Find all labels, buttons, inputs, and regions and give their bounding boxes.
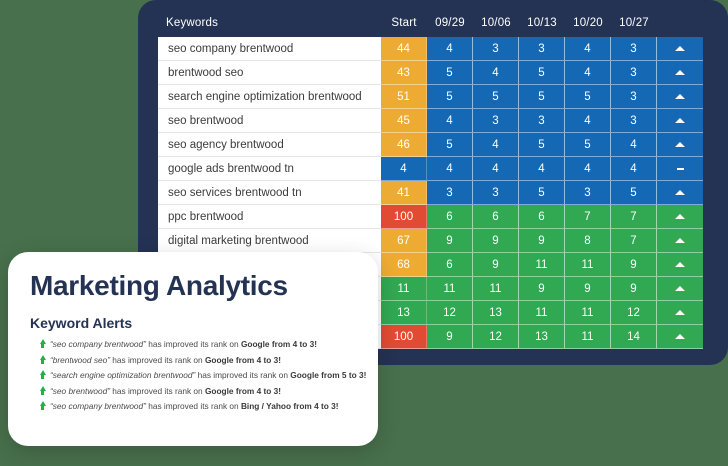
rank-cell: 3 — [565, 181, 611, 205]
trend-up-icon — [657, 85, 703, 109]
start-rank-cell: 51 — [381, 85, 427, 109]
arrow-up-icon — [38, 401, 47, 406]
rank-cell: 5 — [427, 133, 473, 157]
rank-cell: 4 — [427, 37, 473, 61]
rank-cell: 4 — [473, 133, 519, 157]
alert-delta: from 4 to 3! — [234, 355, 281, 365]
alert-midtext: has improved its rank on — [146, 339, 241, 349]
rank-cell: 14 — [611, 325, 657, 349]
trend-up-icon — [657, 61, 703, 85]
keyword-alerts-list: “seo company brentwood” has improved its… — [38, 338, 378, 416]
column-header-1006[interactable]: 10/06 — [473, 17, 519, 29]
trend-up-icon — [657, 277, 703, 301]
alert-engine: Google — [205, 355, 234, 365]
arrow-up-icon — [38, 370, 47, 375]
rank-cell: 12 — [473, 325, 519, 349]
arrow-up-icon — [38, 355, 47, 360]
keyword-cell[interactable]: google ads brentwood tn — [158, 157, 381, 181]
rank-cell: 3 — [473, 181, 519, 205]
rank-cell: 8 — [565, 229, 611, 253]
rank-cell: 3 — [427, 181, 473, 205]
rank-cell: 13 — [519, 325, 565, 349]
list-item[interactable]: “brentwood seo” has improved its rank on… — [38, 354, 378, 370]
alert-engine: Bing / Yahoo — [241, 401, 291, 411]
arrow-up-icon — [38, 339, 47, 344]
rank-cell: 12 — [427, 301, 473, 325]
rank-cell: 4 — [473, 157, 519, 181]
table-row[interactable]: seo services brentwood tn4133535 — [158, 181, 718, 205]
rank-cell: 3 — [611, 85, 657, 109]
alert-message: “brentwood seo” has improved its rank on… — [47, 354, 281, 367]
trend-up-icon — [657, 229, 703, 253]
caret-up-icon — [675, 238, 685, 243]
rank-cell: 7 — [611, 205, 657, 229]
rank-cell: 5 — [427, 85, 473, 109]
rank-cell: 6 — [427, 205, 473, 229]
rank-cell: 9 — [519, 229, 565, 253]
alert-midtext: has improved its rank on — [110, 355, 205, 365]
alert-message: “seo brentwood” has improved its rank on… — [47, 385, 281, 398]
table-row[interactable]: seo company brentwood4443343 — [158, 37, 718, 61]
caret-up-icon — [675, 70, 685, 75]
trend-up-icon — [657, 181, 703, 205]
rank-cell: 4 — [611, 157, 657, 181]
list-item[interactable]: “seo brentwood” has improved its rank on… — [38, 385, 378, 401]
alert-message: “seo company brentwood” has improved its… — [47, 338, 317, 351]
alert-keyword: “brentwood seo” — [50, 355, 110, 365]
rank-cell: 9 — [473, 253, 519, 277]
rank-cell: 3 — [519, 109, 565, 133]
alert-engine: Google — [205, 386, 234, 396]
alert-message: “seo company brentwood” has improved its… — [47, 400, 339, 413]
rank-cell: 6 — [473, 205, 519, 229]
rank-cell: 5 — [427, 61, 473, 85]
keyword-cell[interactable]: seo company brentwood — [158, 37, 381, 61]
caret-up-icon — [675, 142, 685, 147]
start-rank-cell: 41 — [381, 181, 427, 205]
keyword-cell[interactable]: search engine optimization brentwood — [158, 85, 381, 109]
start-rank-cell: 4 — [381, 157, 427, 181]
start-rank-cell: 68 — [381, 253, 427, 277]
rank-cell: 3 — [611, 109, 657, 133]
alert-midtext: has improved its rank on — [146, 401, 241, 411]
trend-up-icon — [657, 109, 703, 133]
column-header-1027[interactable]: 10/27 — [611, 17, 657, 29]
rank-cell: 11 — [565, 253, 611, 277]
table-row[interactable]: google ads brentwood tn444444 — [158, 157, 718, 181]
keyword-cell[interactable]: ppc brentwood — [158, 205, 381, 229]
caret-up-icon — [675, 214, 685, 219]
start-rank-cell: 43 — [381, 61, 427, 85]
start-rank-cell: 46 — [381, 133, 427, 157]
start-rank-cell: 100 — [381, 205, 427, 229]
caret-up-icon — [675, 118, 685, 123]
rank-cell: 5 — [519, 133, 565, 157]
keyword-cell[interactable]: seo services brentwood tn — [158, 181, 381, 205]
rank-cell: 9 — [611, 277, 657, 301]
rank-cell: 9 — [565, 277, 611, 301]
caret-up-icon — [675, 46, 685, 51]
table-row[interactable]: seo brentwood4543343 — [158, 109, 718, 133]
arrow-up-icon — [38, 386, 47, 391]
list-item[interactable]: “search engine optimization brentwood” h… — [38, 369, 378, 385]
table-row[interactable]: brentwood seo4354543 — [158, 61, 718, 85]
keyword-cell[interactable]: seo agency brentwood — [158, 133, 381, 157]
rank-cell: 4 — [519, 157, 565, 181]
start-rank-cell: 45 — [381, 109, 427, 133]
rank-cell: 4 — [565, 157, 611, 181]
column-header-start[interactable]: Start — [381, 17, 427, 29]
rank-cell: 6 — [427, 253, 473, 277]
list-item[interactable]: “seo company brentwood” has improved its… — [38, 400, 378, 416]
rank-cell: 12 — [611, 301, 657, 325]
trend-up-icon — [657, 37, 703, 61]
rank-cell: 3 — [611, 37, 657, 61]
rank-cell: 4 — [427, 157, 473, 181]
list-item[interactable]: “seo company brentwood” has improved its… — [38, 338, 378, 354]
rank-cell: 9 — [519, 277, 565, 301]
start-rank-cell: 13 — [381, 301, 427, 325]
rank-cell: 11 — [519, 301, 565, 325]
table-row[interactable]: seo agency brentwood4654554 — [158, 133, 718, 157]
start-rank-cell: 100 — [381, 325, 427, 349]
caret-up-icon — [675, 94, 685, 99]
trend-up-icon — [657, 133, 703, 157]
screenshot-root: Keywords Start 09/29 10/06 10/13 10/20 1… — [0, 0, 728, 466]
rank-cell: 3 — [473, 109, 519, 133]
alert-engine: Google — [290, 370, 319, 380]
caret-up-icon — [675, 190, 685, 195]
rank-cell: 4 — [565, 37, 611, 61]
table-row[interactable]: digital marketing brentwood6799987 — [158, 229, 718, 253]
table-row[interactable]: search engine optimization brentwood5155… — [158, 85, 718, 109]
rank-cell: 5 — [611, 181, 657, 205]
trend-up-icon — [657, 301, 703, 325]
caret-up-icon — [675, 262, 685, 267]
rank-cell: 5 — [473, 85, 519, 109]
table-header-row: Keywords Start 09/29 10/06 10/13 10/20 1… — [158, 12, 718, 37]
rank-cell: 5 — [519, 61, 565, 85]
rank-cell: 11 — [473, 277, 519, 301]
dash-icon — [677, 168, 684, 170]
rank-cell: 3 — [519, 37, 565, 61]
caret-up-icon — [675, 286, 685, 291]
marketing-analytics-card: Marketing Analytics Keyword Alerts “seo … — [8, 252, 378, 446]
alert-keyword: “search engine optimization brentwood” — [50, 370, 195, 380]
table-row[interactable]: ppc brentwood10066677 — [158, 205, 718, 229]
page-title: Marketing Analytics — [30, 270, 288, 302]
rank-cell: 4 — [565, 109, 611, 133]
alert-keyword: “seo company brentwood” — [50, 401, 146, 411]
rank-cell: 11 — [565, 325, 611, 349]
caret-up-icon — [675, 334, 685, 339]
alert-keyword: “seo company brentwood” — [50, 339, 146, 349]
keyword-cell[interactable]: seo brentwood — [158, 109, 381, 133]
keyword-cell[interactable]: brentwood seo — [158, 61, 381, 85]
rank-cell: 5 — [565, 133, 611, 157]
start-rank-cell: 11 — [381, 277, 427, 301]
alert-delta: from 4 to 3! — [270, 339, 317, 349]
rank-cell: 7 — [611, 229, 657, 253]
alert-keyword: “seo brentwood” — [50, 386, 110, 396]
section-title-keyword-alerts: Keyword Alerts — [30, 315, 132, 331]
rank-cell: 6 — [519, 205, 565, 229]
column-header-1020[interactable]: 10/20 — [565, 17, 611, 29]
rank-cell: 4 — [611, 133, 657, 157]
column-header-0929[interactable]: 09/29 — [427, 17, 473, 29]
alert-message: “search engine optimization brentwood” h… — [47, 369, 366, 382]
rank-cell: 5 — [519, 85, 565, 109]
rank-cell: 5 — [519, 181, 565, 205]
rank-cell: 4 — [427, 109, 473, 133]
trend-up-icon — [657, 205, 703, 229]
alert-delta: from 4 to 3! — [234, 386, 281, 396]
rank-cell: 3 — [611, 61, 657, 85]
caret-up-icon — [675, 310, 685, 315]
rank-cell: 9 — [427, 325, 473, 349]
rank-cell: 3 — [473, 37, 519, 61]
rank-cell: 13 — [473, 301, 519, 325]
rank-cell: 11 — [519, 253, 565, 277]
rank-cell: 11 — [427, 277, 473, 301]
start-rank-cell: 67 — [381, 229, 427, 253]
rank-cell: 5 — [565, 85, 611, 109]
rank-cell: 4 — [565, 61, 611, 85]
rank-cell: 9 — [427, 229, 473, 253]
alert-midtext: has improved its rank on — [110, 386, 205, 396]
trend-up-icon — [657, 253, 703, 277]
rank-cell: 11 — [565, 301, 611, 325]
start-rank-cell: 44 — [381, 37, 427, 61]
trend-flat-icon — [657, 157, 703, 181]
rank-cell: 9 — [473, 229, 519, 253]
column-header-1013[interactable]: 10/13 — [519, 17, 565, 29]
column-header-keywords[interactable]: Keywords — [166, 17, 218, 29]
rank-cell: 9 — [611, 253, 657, 277]
keyword-cell[interactable]: digital marketing brentwood — [158, 229, 381, 253]
alert-engine: Google — [241, 339, 270, 349]
alert-delta: from 5 to 3! — [319, 370, 366, 380]
rank-cell: 7 — [565, 205, 611, 229]
trend-up-icon — [657, 325, 703, 349]
alert-midtext: has improved its rank on — [195, 370, 290, 380]
rank-cell: 4 — [473, 61, 519, 85]
alert-delta: from 4 to 3! — [291, 401, 338, 411]
